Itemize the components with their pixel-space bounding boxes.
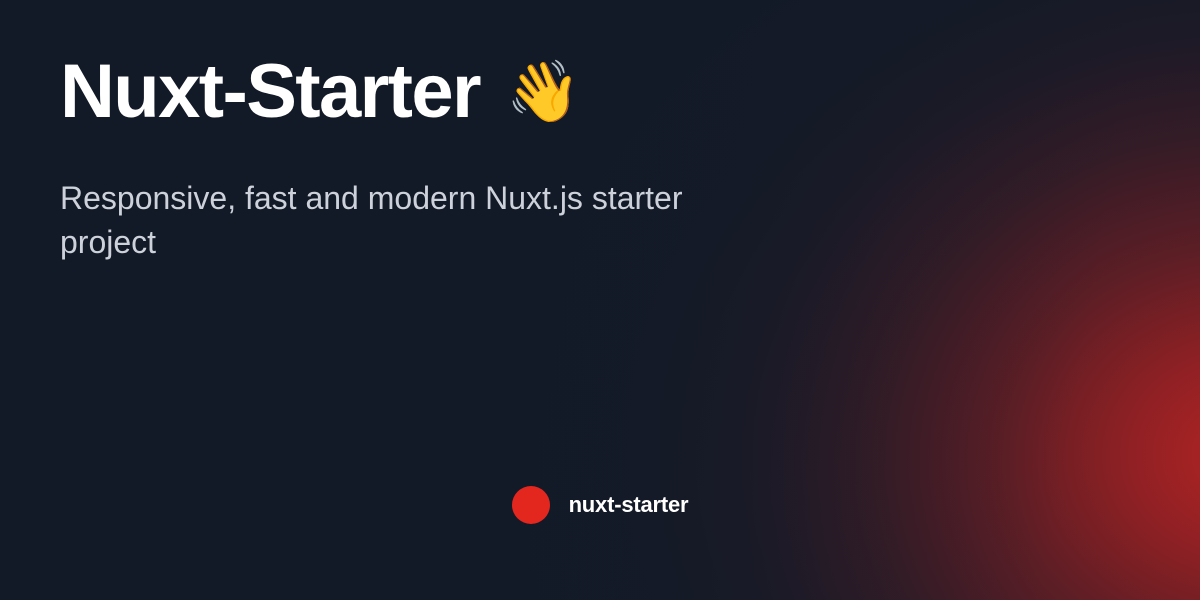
title-row: Nuxt-Starter 👋 [60,52,780,132]
card-content: Nuxt-Starter 👋 Responsive, fast and mode… [0,0,1200,600]
open-graph-card: Nuxt-Starter 👋 Responsive, fast and mode… [0,0,1200,600]
repository-name: nuxt-starter [569,492,689,518]
repository-avatar [512,486,550,524]
heading-block: Nuxt-Starter 👋 Responsive, fast and mode… [60,52,780,264]
waving-hand-emoji: 👋 [506,62,581,122]
page-subtitle: Responsive, fast and modern Nuxt.js star… [60,176,700,264]
repository-badge: nuxt-starter [0,486,1200,524]
page-title: Nuxt-Starter [60,52,480,132]
